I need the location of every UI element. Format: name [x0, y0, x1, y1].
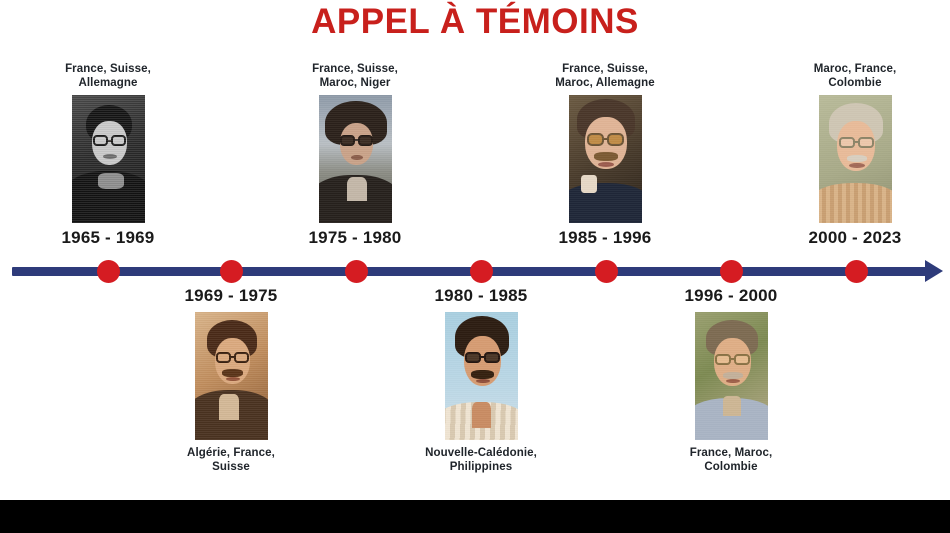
entry-countries-line1: France, Suisse, — [280, 62, 430, 76]
entry-years: 1969 - 1975 — [156, 286, 306, 306]
entry-countries: France, Suisse, Maroc, Niger — [280, 62, 430, 90]
timeline-entry: France, Suisse, Maroc, Niger 1975 - 1980 — [280, 62, 430, 248]
entry-countries: Maroc, France, Colombie — [780, 62, 930, 90]
portrait-2000-2023 — [819, 95, 892, 223]
infographic-canvas: APPEL À TÉMOINS France, Suisse, Allemagn… — [0, 0, 950, 533]
entry-countries-line1: France, Suisse, — [33, 62, 183, 76]
timeline-entry: Maroc, France, Colombie 2000 - 2023 — [780, 62, 930, 248]
entry-countries-line2: Colombie — [656, 460, 806, 474]
entry-countries-line1: Algérie, France, — [156, 446, 306, 460]
entry-years: 2000 - 2023 — [780, 228, 930, 248]
portrait-1980-1985 — [445, 312, 518, 440]
letterbox-bar — [0, 500, 950, 533]
timeline-dot[interactable] — [845, 260, 868, 283]
entry-years: 1996 - 2000 — [656, 286, 806, 306]
timeline-entry: France, Suisse, Allemagne 1965 - 1969 — [33, 62, 183, 248]
timeline-dot[interactable] — [720, 260, 743, 283]
timeline-entry: 1969 - 1975 Algérie, France, Suisse — [156, 286, 306, 474]
timeline-entry: 1980 - 1985 Nouvelle-Calédonie, Philippi… — [406, 286, 556, 474]
entry-countries-line2: Colombie — [780, 76, 930, 90]
entry-countries-line2: Allemagne — [33, 76, 183, 90]
portrait-1969-1975 — [195, 312, 268, 440]
page-title: APPEL À TÉMOINS — [0, 2, 950, 42]
entry-countries-line2: Suisse — [156, 460, 306, 474]
entry-countries-line2: Maroc, Allemagne — [530, 76, 680, 90]
entry-years: 1985 - 1996 — [530, 228, 680, 248]
entry-countries: Nouvelle-Calédonie, Philippines — [406, 446, 556, 474]
entry-countries-line1: Maroc, France, — [780, 62, 930, 76]
entry-countries-line2: Philippines — [406, 460, 556, 474]
entry-years: 1975 - 1980 — [280, 228, 430, 248]
portrait-1975-1980 — [319, 95, 392, 223]
entry-years: 1965 - 1969 — [33, 228, 183, 248]
timeline-dot[interactable] — [345, 260, 368, 283]
entry-countries: France, Suisse, Allemagne — [33, 62, 183, 90]
timeline-entry: France, Suisse, Maroc, Allemagne 1985 - … — [530, 62, 680, 248]
entry-years: 1980 - 1985 — [406, 286, 556, 306]
timeline-entry: 1996 - 2000 France, Maroc, Colombie — [656, 286, 806, 474]
entry-countries-line2: Maroc, Niger — [280, 76, 430, 90]
entry-countries-line1: France, Maroc, — [656, 446, 806, 460]
timeline-dot[interactable] — [97, 260, 120, 283]
entry-countries-line1: France, Suisse, — [530, 62, 680, 76]
entry-countries: Algérie, France, Suisse — [156, 446, 306, 474]
timeline-dot[interactable] — [220, 260, 243, 283]
entry-countries: France, Maroc, Colombie — [656, 446, 806, 474]
portrait-1996-2000 — [695, 312, 768, 440]
entry-countries-line1: Nouvelle-Calédonie, — [406, 446, 556, 460]
timeline-arrow-icon — [925, 260, 943, 282]
timeline-dot[interactable] — [470, 260, 493, 283]
entry-countries: France, Suisse, Maroc, Allemagne — [530, 62, 680, 90]
timeline-dot[interactable] — [595, 260, 618, 283]
portrait-1985-1996 — [569, 95, 642, 223]
portrait-1965-1969 — [72, 95, 145, 223]
